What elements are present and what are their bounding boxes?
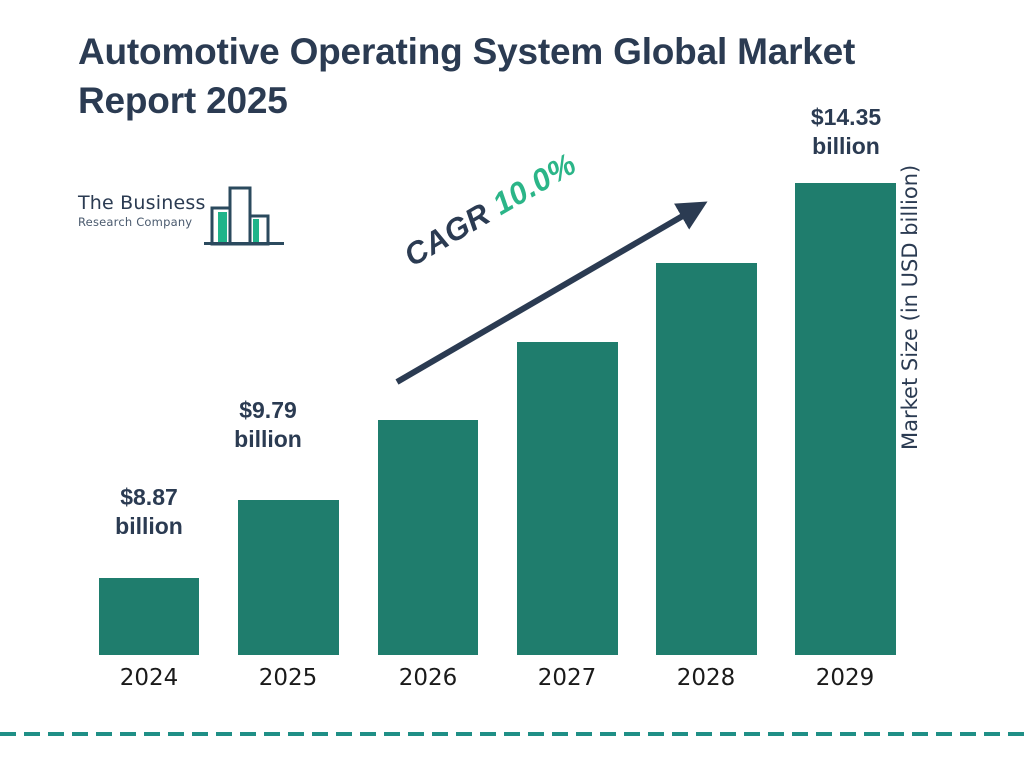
- x-tick-2025: 2025: [218, 665, 358, 691]
- bar-2024: [99, 578, 199, 655]
- footer-divider: [0, 732, 1024, 736]
- x-tick-2024: 2024: [79, 665, 219, 691]
- x-tick-2027: 2027: [497, 665, 637, 691]
- bar-value-2024: $8.87 billion: [79, 483, 219, 541]
- bar-2028: [656, 263, 757, 655]
- bar-value-2029: $14.35 billion: [776, 103, 916, 161]
- y-axis-label: Market Size (in USD billion): [898, 120, 922, 450]
- x-tick-2026: 2026: [358, 665, 498, 691]
- chart-page: Automotive Operating System Global Marke…: [0, 0, 1024, 768]
- x-tick-2029: 2029: [775, 665, 915, 691]
- bar-2025: [238, 500, 339, 655]
- x-tick-2028: 2028: [636, 665, 776, 691]
- bar-2026: [378, 420, 478, 655]
- bar-2029: [795, 183, 896, 655]
- bar-2027: [517, 342, 618, 655]
- bar-value-2025: $9.79 billion: [198, 396, 338, 454]
